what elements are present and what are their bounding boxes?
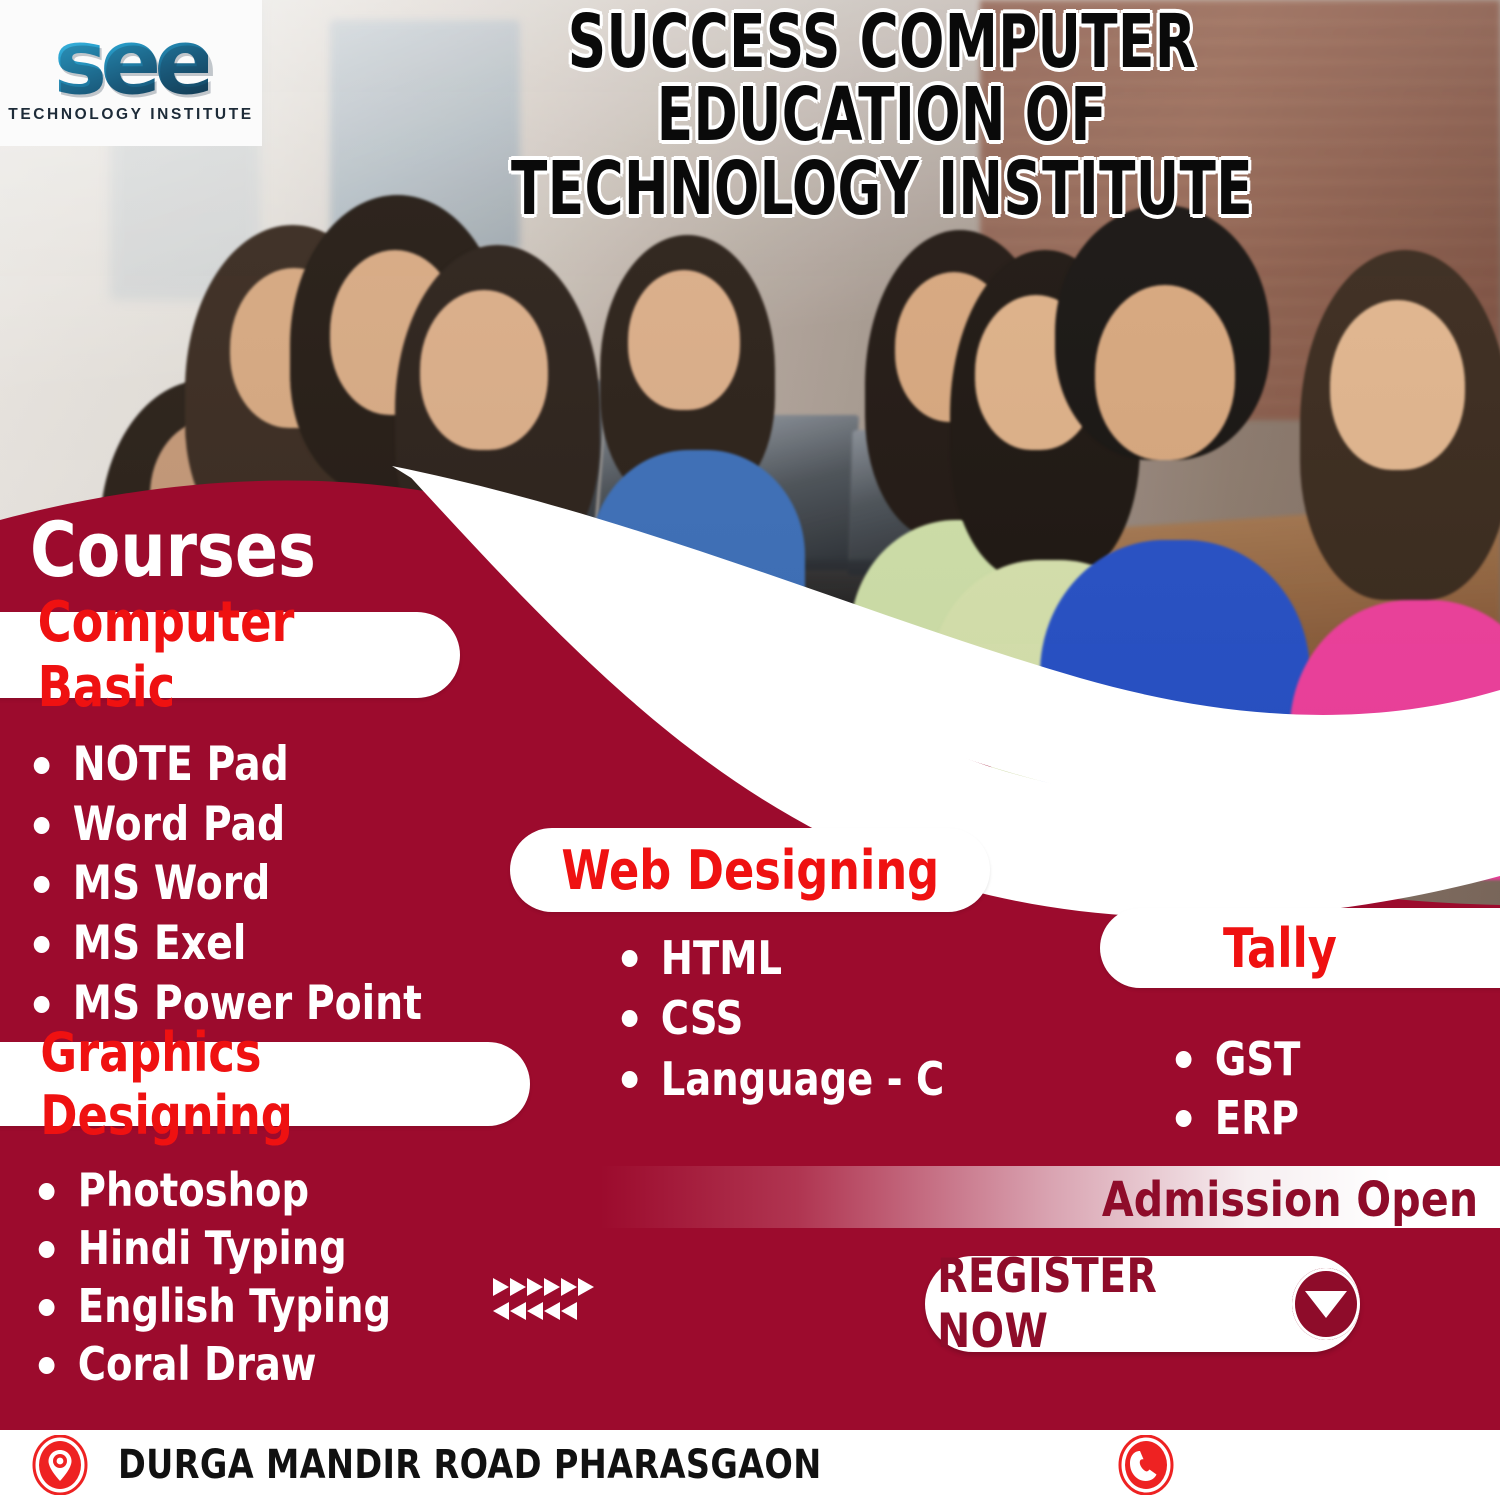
poster-root: see TECHNOLOGY INSTITUTE SUCCESS COMPUTE… bbox=[0, 0, 1500, 1500]
course-list-tally: GST ERP bbox=[1172, 1030, 1310, 1148]
down-triangle-glyph bbox=[1305, 1291, 1347, 1318]
section-label-web-designing: Web Designing bbox=[561, 839, 939, 902]
list-item: English Typing bbox=[35, 1278, 391, 1336]
section-pill-web-designing[interactable]: Web Designing bbox=[510, 828, 990, 912]
section-pill-computer-basic[interactable]: Computer Basic bbox=[0, 612, 460, 698]
double-chevron-arrows-icon bbox=[487, 1276, 607, 1328]
register-now-label: REGISTER NOW bbox=[937, 1249, 1262, 1359]
list-item: ERP bbox=[1172, 1089, 1300, 1148]
list-item: Coral Draw bbox=[35, 1336, 391, 1394]
courses-heading: Courses bbox=[30, 505, 316, 594]
location-pin-icon bbox=[32, 1435, 88, 1495]
register-now-button[interactable]: REGISTER NOW bbox=[925, 1256, 1360, 1352]
list-item: HTML bbox=[618, 928, 944, 988]
section-label-computer-basic: Computer Basic bbox=[38, 590, 443, 720]
list-item: NOTE Pad bbox=[30, 735, 422, 795]
section-pill-graphics-designing[interactable]: Graphics Designing bbox=[0, 1042, 530, 1126]
list-item: MS Exel bbox=[30, 914, 422, 974]
course-list-graphics-designing: Photoshop Hindi Typing English Typing Co… bbox=[35, 1162, 418, 1394]
list-item: Language - C bbox=[618, 1049, 944, 1109]
footer-bar: DURGA MANDIR ROAD PHARASGAON bbox=[0, 1430, 1500, 1500]
list-item: CSS bbox=[618, 988, 944, 1048]
list-item: GST bbox=[1172, 1030, 1300, 1089]
section-label-graphics-designing: Graphics Designing bbox=[40, 1021, 509, 1147]
section-label-tally: Tally bbox=[1223, 917, 1337, 980]
list-item: Photoshop bbox=[35, 1162, 391, 1220]
course-list-web-designing: HTML CSS Language - C bbox=[618, 928, 969, 1109]
courses-content: Courses Computer Basic NOTE Pad Word Pad… bbox=[0, 0, 1500, 1430]
section-pill-tally[interactable]: Tally bbox=[1100, 908, 1500, 988]
list-item: MS Word bbox=[30, 854, 422, 914]
admission-open-text: Admission Open bbox=[1102, 1172, 1478, 1228]
phone-icon[interactable] bbox=[1118, 1435, 1174, 1495]
course-list-computer-basic: NOTE Pad Word Pad MS Word MS Exel MS Pow… bbox=[30, 735, 451, 1033]
list-item: Hindi Typing bbox=[35, 1220, 391, 1278]
chevron-down-circle-icon[interactable] bbox=[1292, 1268, 1360, 1340]
footer-address: DURGA MANDIR ROAD PHARASGAON bbox=[118, 1442, 822, 1488]
list-item: Word Pad bbox=[30, 795, 422, 855]
